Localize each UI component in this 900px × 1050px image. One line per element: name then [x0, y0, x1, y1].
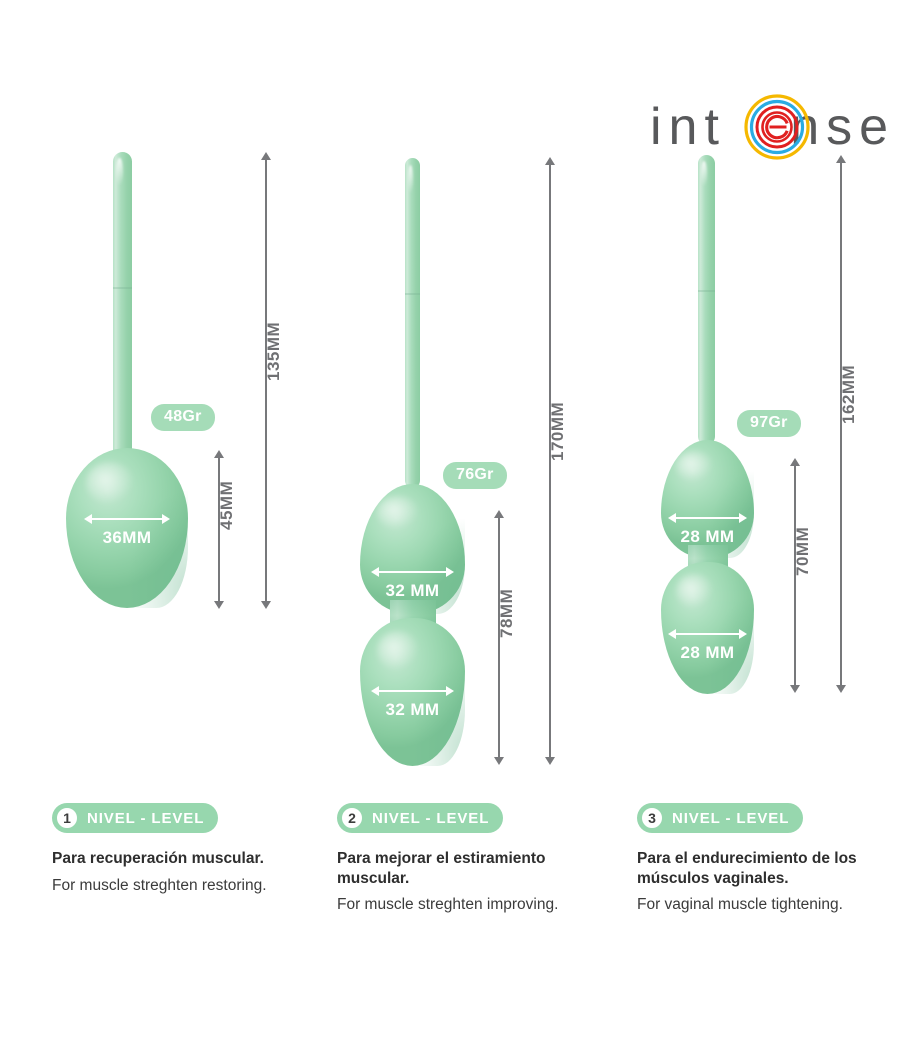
level-1-description-es: Para recuperación muscular.	[52, 849, 302, 869]
product-3-total-length-dimension: 162MM	[840, 155, 841, 693]
product-1-body-length-dimension: 45MM	[218, 450, 219, 609]
product-3-total-length-label: 162MM	[839, 365, 859, 424]
level-1-label: NIVEL - LEVEL	[87, 810, 204, 827]
level-3-label: NIVEL - LEVEL	[672, 810, 789, 827]
level-3-description-en: For vaginal muscle tightening.	[637, 895, 899, 915]
product-1-stem	[113, 152, 132, 462]
product-2-weight-badge: 76Gr	[443, 462, 507, 489]
product-3-upper-width-label: 28 MM	[668, 527, 747, 547]
level-3-description-es: Para el endurecimiento de los músculos v…	[637, 849, 899, 888]
product-2-total-length-label: 170MM	[548, 402, 568, 461]
product-3-body-length-label: 70MM	[793, 526, 813, 575]
product-3-weight-badge: 97Gr	[737, 410, 801, 437]
level-2-badge: 2 NIVEL - LEVEL	[337, 803, 503, 833]
product-1-total-length-label: 135MM	[264, 321, 284, 380]
level-2-label: NIVEL - LEVEL	[372, 810, 489, 827]
product-1-stem-seam	[113, 287, 132, 289]
product-2-upper-width-measure: 32 MM	[371, 566, 454, 601]
level-2-text-block: 2 NIVEL - LEVEL Para mejorar el estirami…	[337, 803, 587, 915]
product-2-body-length-dimension: 78MM	[498, 510, 499, 765]
product-3-stem-seam	[698, 290, 715, 292]
level-2-number: 2	[340, 806, 364, 830]
product-2-total-length-dimension: 170MM	[549, 157, 550, 765]
product-comparison-infographic: int nse	[0, 0, 900, 1050]
product-column-level-1: 36MM 48Gr 45MM 135MM	[0, 0, 300, 790]
product-1-weight-badge: 48Gr	[151, 404, 215, 431]
product-1-total-length-dimension: 135MM	[265, 152, 266, 609]
level-1-description-en: For muscle streghten restoring.	[52, 876, 302, 896]
product-column-level-2: 32 MM 32 MM 76Gr 78MM 170MM	[300, 0, 600, 790]
product-1-width-measure: 36MM	[84, 513, 170, 548]
product-3-body-length-dimension: 70MM	[794, 458, 795, 693]
width-arrow-icon	[668, 512, 747, 524]
width-arrow-icon	[84, 513, 170, 525]
product-3-lower-width-label: 28 MM	[668, 643, 747, 663]
product-1-body-length-label: 45MM	[217, 480, 237, 529]
level-3-number: 3	[640, 806, 664, 830]
level-3-badge: 3 NIVEL - LEVEL	[637, 803, 803, 833]
level-3-text-block: 3 NIVEL - LEVEL Para el endurecimiento d…	[637, 803, 899, 915]
product-3-upper-width-measure: 28 MM	[668, 512, 747, 547]
product-2-upper-width-label: 32 MM	[371, 581, 454, 601]
level-1-badge: 1 NIVEL - LEVEL	[52, 803, 218, 833]
product-2-body-length-label: 78MM	[497, 588, 517, 637]
product-2-stem-seam	[405, 293, 420, 295]
width-arrow-icon	[371, 685, 454, 697]
product-column-level-3: 28 MM 28 MM 97Gr 70MM 162MM	[600, 0, 900, 790]
level-1-number: 1	[55, 806, 79, 830]
product-2-stem	[405, 158, 420, 488]
product-1-width-label: 36MM	[84, 528, 170, 548]
product-3-lower-width-measure: 28 MM	[668, 628, 747, 663]
product-3-stem	[698, 155, 715, 445]
level-2-description-en: For muscle streghten improving.	[337, 895, 587, 915]
level-1-text-block: 1 NIVEL - LEVEL Para recuperación muscul…	[52, 803, 302, 896]
product-2-lower-width-label: 32 MM	[371, 700, 454, 720]
level-2-description-es: Para mejorar el estiramiento muscular.	[337, 849, 587, 888]
width-arrow-icon	[371, 566, 454, 578]
width-arrow-icon	[668, 628, 747, 640]
product-2-lower-width-measure: 32 MM	[371, 685, 454, 720]
